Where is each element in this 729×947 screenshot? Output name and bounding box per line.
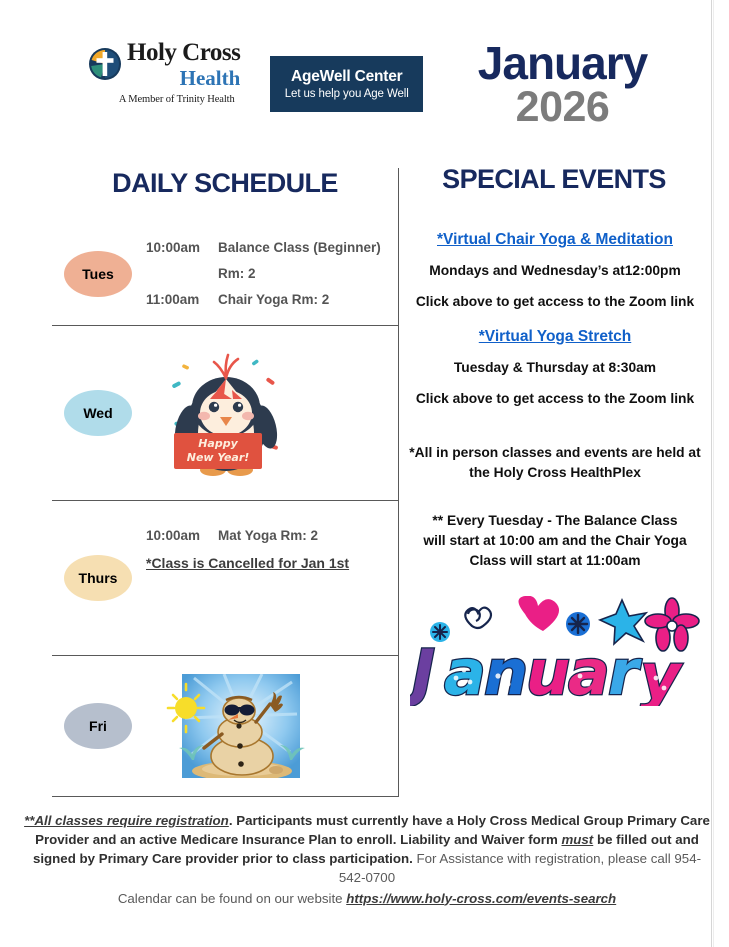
footer-disclaimer: **All classes require registration. Part… [22,812,712,908]
entry-desc: Balance Class (Beginner) [218,235,398,261]
row-divider-3 [52,655,398,656]
footer-emphasis-registration: **All classes require registration [24,813,229,828]
column-divider [398,168,399,797]
schedule-row-wednesday: Wed [52,327,398,499]
agewell-center-badge: AgeWell Center Let us help you Age Well [270,56,423,112]
row-divider-2 [52,500,398,501]
page-title: January 2026 [430,40,695,130]
agewell-title: AgeWell Center [291,68,402,86]
title-year: 2026 [430,85,695,130]
logo-tagline: A Member of Trinity Health [88,94,265,105]
schedule-entries-tuesday: 10:00am Balance Class (Beginner) Rm: 2 1… [132,235,398,314]
schedule-row-thursday: Thurs 10:00am Mat Yoga Rm: 2 *Class is C… [52,502,398,654]
svg-text:y: y [640,640,683,706]
svg-text:u: u [526,636,570,706]
holy-cross-emblem-icon [88,47,122,81]
special-events-heading: SPECIAL EVENTS [399,164,709,195]
logo-name-line1: Holy Cross [127,40,240,66]
day-pill-tuesday: Tues [64,251,132,297]
row-divider-1 [52,325,398,326]
beach-snowman-image [164,674,314,778]
in-person-location-note: *All in person classes and events are he… [404,443,706,483]
timing-note-line3: Class will start at 11:00am [404,551,706,571]
timing-note-line1: ** Every Tuesday - The Balance Class [404,511,706,531]
penguin-new-year-image: Happy New Year! [166,349,286,477]
logo-name-line2: Health [127,67,240,89]
svg-text:r: r [608,636,642,706]
special-events-content: *Virtual Chair Yoga & Meditation Mondays… [404,228,706,571]
class-cancelled-note: *Class is Cancelled for Jan 1st [146,549,398,577]
footer-website-line: Calendar can be found on our website htt… [22,890,712,909]
calendar-page: Holy Cross Health A Member of Trinity He… [0,0,712,947]
virtual-chair-yoga-link[interactable]: *Virtual Chair Yoga & Meditation [404,228,706,251]
svg-text:n: n [484,636,528,706]
footer-website-label: Calendar can be found on our website [118,891,346,906]
agewell-subtitle: Let us help you Age Well [285,88,409,100]
entry-time: 11:00am [146,287,218,313]
svg-text:New Year!: New Year! [187,451,250,464]
schedule-entries-thursday: 10:00am Mat Yoga Rm: 2 *Class is Cancell… [132,523,398,577]
chair-yoga-zoom-instruction: Click above to get access to the Zoom li… [404,292,706,313]
title-month: January [430,40,695,87]
footer-emphasis-must: must [561,832,593,847]
location-note-line2: the Holy Cross HealthPlex [404,463,706,483]
entry-time: 10:00am [146,523,218,549]
schedule-row-tuesday: Tues 10:00am Balance Class (Beginner) Rm… [52,225,398,323]
yoga-stretch-schedule-text: Tuesday & Thursday at 8:30am [404,358,706,379]
schedule-entry: 10:00am Balance Class (Beginner) [146,235,398,261]
svg-text:a: a [568,636,610,706]
january-doodle-image: J a n u a r y [410,596,700,706]
entry-time: 10:00am [146,235,218,261]
schedule-entries-wednesday: Happy New Year! [132,349,398,477]
entry-desc: Mat Yoga Rm: 2 [218,523,398,549]
schedule-row-friday: Fri [52,657,398,795]
entry-desc: Rm: 2 [218,261,398,287]
svg-text:Happy: Happy [198,437,238,450]
schedule-entry: Rm: 2 [146,261,398,287]
yoga-stretch-zoom-instruction: Click above to get access to the Zoom li… [404,389,706,410]
entry-desc: Chair Yoga Rm: 2 [218,287,398,313]
schedule-entry: 10:00am Mat Yoga Rm: 2 [146,523,398,549]
daily-schedule-heading: DAILY SCHEDULE [52,168,398,199]
virtual-yoga-stretch-link[interactable]: *Virtual Yoga Stretch [404,325,706,348]
day-pill-friday: Fri [64,703,132,749]
chair-yoga-schedule-text: Mondays and Wednesday’s at12:00pm [404,261,706,282]
footer-website-url[interactable]: https://www.holy-cross.com/events-search [346,891,616,906]
schedule-entries-friday [132,674,398,778]
tuesday-timing-note: ** Every Tuesday - The Balance Class wil… [404,511,706,571]
day-pill-thursday: Thurs [64,555,132,601]
schedule-entry: 11:00am Chair Yoga Rm: 2 [146,287,398,313]
holy-cross-health-logo: Holy Cross Health A Member of Trinity He… [88,38,265,105]
timing-note-line2: will start at 10:00 am and the Chair Yog… [404,531,706,551]
day-pill-wednesday: Wed [64,390,132,436]
svg-text:J: J [410,636,435,706]
row-divider-4 [52,796,398,797]
location-note-line1: *All in person classes and events are he… [404,443,706,463]
page-gutter [713,0,729,947]
header-logo-area: Holy Cross Health A Member of Trinity He… [88,38,423,136]
